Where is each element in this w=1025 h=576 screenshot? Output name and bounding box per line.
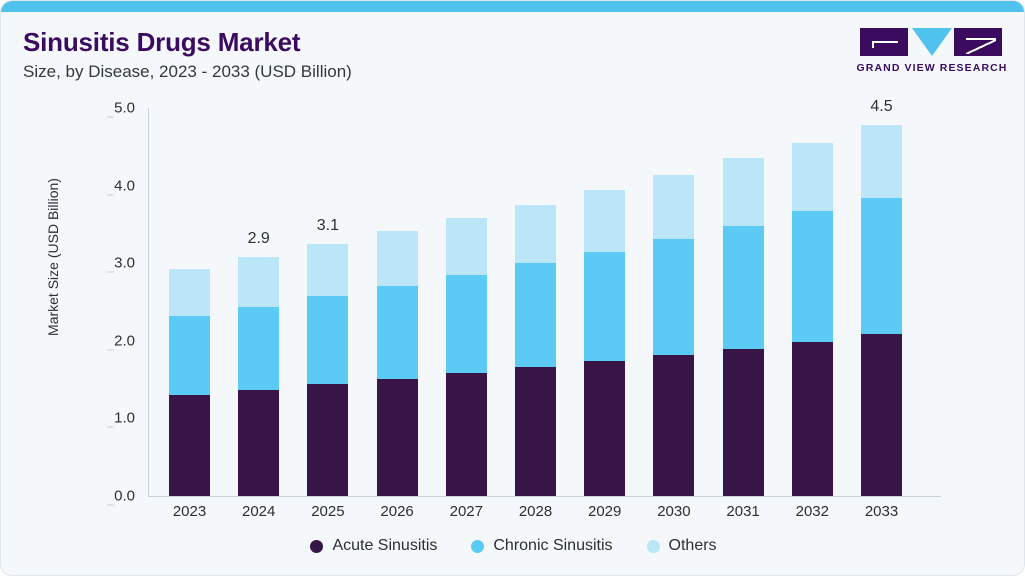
legend-swatch-icon [647, 540, 660, 553]
bar-segment-others[interactable] [377, 231, 418, 285]
bar-segment-others[interactable] [861, 125, 902, 198]
bar-segment-others[interactable] [307, 244, 348, 296]
bar-segment-acute-sinusitis[interactable] [446, 373, 487, 496]
bar-2029[interactable] [584, 190, 625, 497]
y-axis-tick-label: 3.0 [114, 255, 148, 272]
bar-2032[interactable] [792, 143, 833, 496]
chart-card: Sinusitis Drugs Market Size, by Disease,… [0, 0, 1025, 576]
y-axis-tick-mark [107, 349, 114, 350]
x-axis-tick-2028: 2028 [515, 503, 556, 520]
bar-segment-chronic-sinusitis[interactable] [861, 198, 902, 334]
bars-container: 0.01.02.03.04.05.02.93.14.5 [148, 108, 941, 496]
y-axis-label: Market Size (USD Billion) [45, 172, 61, 342]
bar-2025[interactable]: 3.1 [307, 244, 348, 496]
legend-label: Others [669, 537, 717, 555]
bar-value-label-2033: 4.5 [870, 98, 892, 116]
bar-segment-acute-sinusitis[interactable] [377, 379, 418, 496]
bar-segment-acute-sinusitis[interactable] [653, 355, 694, 496]
y-axis-tick-label: 5.0 [114, 100, 148, 117]
bar-segment-acute-sinusitis[interactable] [238, 390, 279, 496]
bar-segment-acute-sinusitis[interactable] [792, 342, 833, 496]
y-axis-tick-mark [107, 117, 114, 118]
bar-segment-others[interactable] [792, 143, 833, 211]
y-axis-tick-label: 1.0 [114, 410, 148, 427]
bar-segment-acute-sinusitis[interactable] [584, 361, 625, 496]
bar-segment-others[interactable] [446, 218, 487, 275]
legend-label: Acute Sinusitis [332, 537, 437, 555]
x-axis-tick-2029: 2029 [584, 503, 625, 520]
bar-segment-others[interactable] [584, 190, 625, 252]
bar-segment-chronic-sinusitis[interactable] [377, 286, 418, 379]
bar-2028[interactable] [515, 205, 556, 496]
x-axis-tick-2027: 2027 [446, 503, 487, 520]
bar-2024[interactable]: 2.9 [238, 257, 279, 496]
bar-segment-chronic-sinusitis[interactable] [584, 252, 625, 361]
bar-segment-others[interactable] [515, 205, 556, 263]
legend-item-chronic-sinusitis[interactable]: Chronic Sinusitis [471, 537, 612, 555]
y-axis-tick-label: 0.0 [114, 488, 148, 505]
bar-value-label-2024: 2.9 [248, 230, 270, 248]
bar-segment-chronic-sinusitis[interactable] [169, 316, 210, 395]
bar-2023[interactable] [169, 269, 210, 496]
bar-segment-acute-sinusitis[interactable] [515, 367, 556, 496]
legend-swatch-icon [471, 540, 484, 553]
x-axis-tick-2033: 2033 [861, 503, 902, 520]
chart-legend: Acute SinusitisChronic SinusitisOthers [1, 537, 1025, 555]
bar-segment-acute-sinusitis[interactable] [723, 349, 764, 496]
legend-swatch-icon [310, 540, 323, 553]
legend-item-others[interactable]: Others [647, 537, 717, 555]
bar-segment-others[interactable] [653, 175, 694, 239]
y-axis-tick-label: 2.0 [114, 332, 148, 349]
legend-item-acute-sinusitis[interactable]: Acute Sinusitis [310, 537, 437, 555]
bar-segment-others[interactable] [238, 257, 279, 307]
x-axis-tick-2025: 2025 [307, 503, 348, 520]
bar-2030[interactable] [653, 175, 694, 496]
y-axis-tick-mark [107, 272, 114, 273]
bar-segment-acute-sinusitis[interactable] [861, 334, 902, 496]
y-axis-tick-mark [107, 194, 114, 195]
bar-segment-chronic-sinusitis[interactable] [515, 263, 556, 367]
bar-segment-others[interactable] [169, 269, 210, 316]
y-axis-tick-mark [107, 505, 114, 506]
bar-segment-acute-sinusitis[interactable] [169, 395, 210, 496]
bar-2027[interactable] [446, 218, 487, 496]
x-axis-tick-2031: 2031 [723, 503, 764, 520]
bar-segment-chronic-sinusitis[interactable] [723, 226, 764, 349]
bar-segment-others[interactable] [723, 158, 764, 226]
bar-segment-chronic-sinusitis[interactable] [238, 307, 279, 390]
y-axis-tick-label: 4.0 [114, 177, 148, 194]
x-axis-tick-2023: 2023 [169, 503, 210, 520]
bar-2026[interactable] [377, 231, 418, 496]
legend-label: Chronic Sinusitis [493, 537, 612, 555]
bar-segment-chronic-sinusitis[interactable] [653, 239, 694, 355]
x-axis-line [148, 496, 941, 497]
y-axis-tick-mark [107, 427, 114, 428]
bar-segment-chronic-sinusitis[interactable] [792, 211, 833, 341]
plot-area: Market Size (USD Billion) 0.01.02.03.04.… [1, 1, 1025, 576]
bar-2033[interactable]: 4.5 [861, 125, 902, 496]
bar-segment-acute-sinusitis[interactable] [307, 384, 348, 496]
bar-segment-chronic-sinusitis[interactable] [446, 275, 487, 374]
bar-value-label-2025: 3.1 [317, 217, 339, 235]
x-axis-tick-2030: 2030 [653, 503, 694, 520]
x-axis-tick-2032: 2032 [792, 503, 833, 520]
x-axis-tick-2026: 2026 [377, 503, 418, 520]
x-axis-tick-2024: 2024 [238, 503, 279, 520]
bar-2031[interactable] [723, 158, 764, 496]
bar-segment-chronic-sinusitis[interactable] [307, 296, 348, 384]
